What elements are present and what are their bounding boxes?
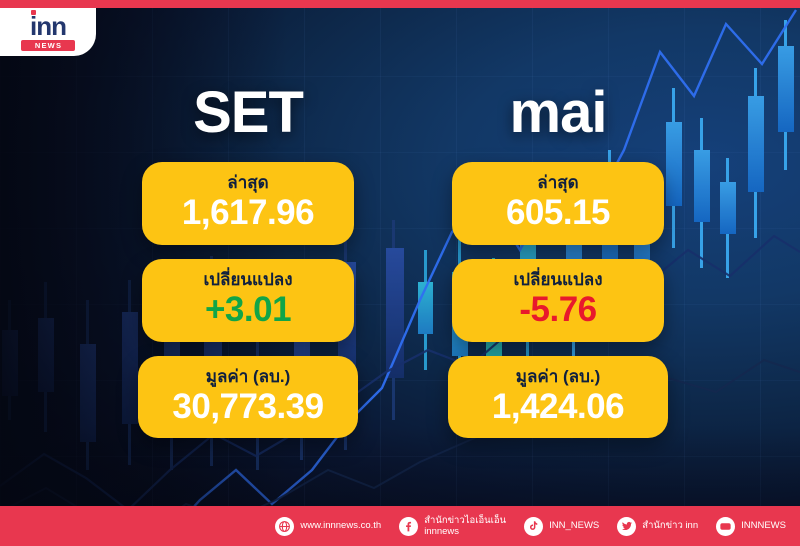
mai-change-value: -5.76 <box>458 291 658 330</box>
set-change-label: เปลี่ยนแปลง <box>148 269 348 290</box>
mai-value-card: มูลค่า (ลบ.) 1,424.06 <box>448 356 668 439</box>
footer-twitter-text: สำนักข่าว inn <box>642 520 698 531</box>
set-latest-label: ล่าสุด <box>148 172 348 193</box>
set-change-card: เปลี่ยนแปลง +3.01 <box>142 259 354 342</box>
globe-icon <box>275 517 294 536</box>
mai-value-amount: 1,424.06 <box>454 388 662 427</box>
footer-youtube-text: INNNEWS <box>741 520 786 531</box>
set-value-label: มูลค่า (ลบ.) <box>144 366 352 387</box>
background-vignette <box>0 0 800 546</box>
top-accent-bar <box>0 0 800 8</box>
mai-change-label: เปลี่ยนแปลง <box>458 269 658 290</box>
footer-facebook-text: สำนักข่าวไอเอ็นเอ็น innnews <box>424 515 506 537</box>
index-column-mai: mai ล่าสุด 605.15 เปลี่ยนแปลง -5.76 มูลค… <box>438 84 678 452</box>
mai-latest-value: 605.15 <box>458 194 658 233</box>
set-value-amount: 30,773.39 <box>144 388 352 427</box>
footer-facebook-line1: สำนักข่าวไอเอ็นเอ็น <box>424 515 506 526</box>
tiktok-icon <box>524 517 543 536</box>
set-change-value: +3.01 <box>148 291 348 330</box>
mai-value-label: มูลค่า (ลบ.) <box>454 366 662 387</box>
index-column-set: SET ล่าสุด 1,617.96 เปลี่ยนแปลง +3.01 มู… <box>128 84 368 452</box>
index-title-set: SET <box>193 84 303 142</box>
footer-link-twitter[interactable]: สำนักข่าว inn <box>617 517 698 536</box>
mai-latest-label: ล่าสุด <box>458 172 658 193</box>
footer-website-text: www.innnews.co.th <box>300 520 381 531</box>
footer-facebook-line2: innnews <box>424 526 506 537</box>
set-latest-value: 1,617.96 <box>148 194 348 233</box>
set-value-card: มูลค่า (ลบ.) 30,773.39 <box>138 356 358 439</box>
mai-change-card: เปลี่ยนแปลง -5.76 <box>452 259 664 342</box>
set-latest-card: ล่าสุด 1,617.96 <box>142 162 354 245</box>
logo-news-badge: NEWS <box>21 40 75 51</box>
footer-link-tiktok[interactable]: INN_NEWS <box>524 517 599 536</box>
mai-latest-card: ล่าสุด 605.15 <box>452 162 664 245</box>
footer-link-youtube[interactable]: INNNEWS <box>716 517 786 536</box>
facebook-icon <box>399 517 418 536</box>
logo-dot-icon <box>31 10 36 15</box>
footer-social-bar: www.innnews.co.th สำนักข่าวไอเอ็นเอ็น in… <box>0 506 800 546</box>
logo-wordmark: inn <box>30 13 66 39</box>
footer-link-website[interactable]: www.innnews.co.th <box>275 517 381 536</box>
footer-link-facebook[interactable]: สำนักข่าวไอเอ็นเอ็น innnews <box>399 515 506 537</box>
graphic-canvas: inn NEWS SET ล่าสุด 1,617.96 เปลี่ยนแปลง… <box>0 0 800 546</box>
twitter-icon <box>617 517 636 536</box>
logo-word-text: inn <box>30 11 66 41</box>
footer-tiktok-text: INN_NEWS <box>549 520 599 531</box>
index-title-mai: mai <box>510 84 607 142</box>
inn-news-logo: inn NEWS <box>0 8 96 56</box>
youtube-icon <box>716 517 735 536</box>
